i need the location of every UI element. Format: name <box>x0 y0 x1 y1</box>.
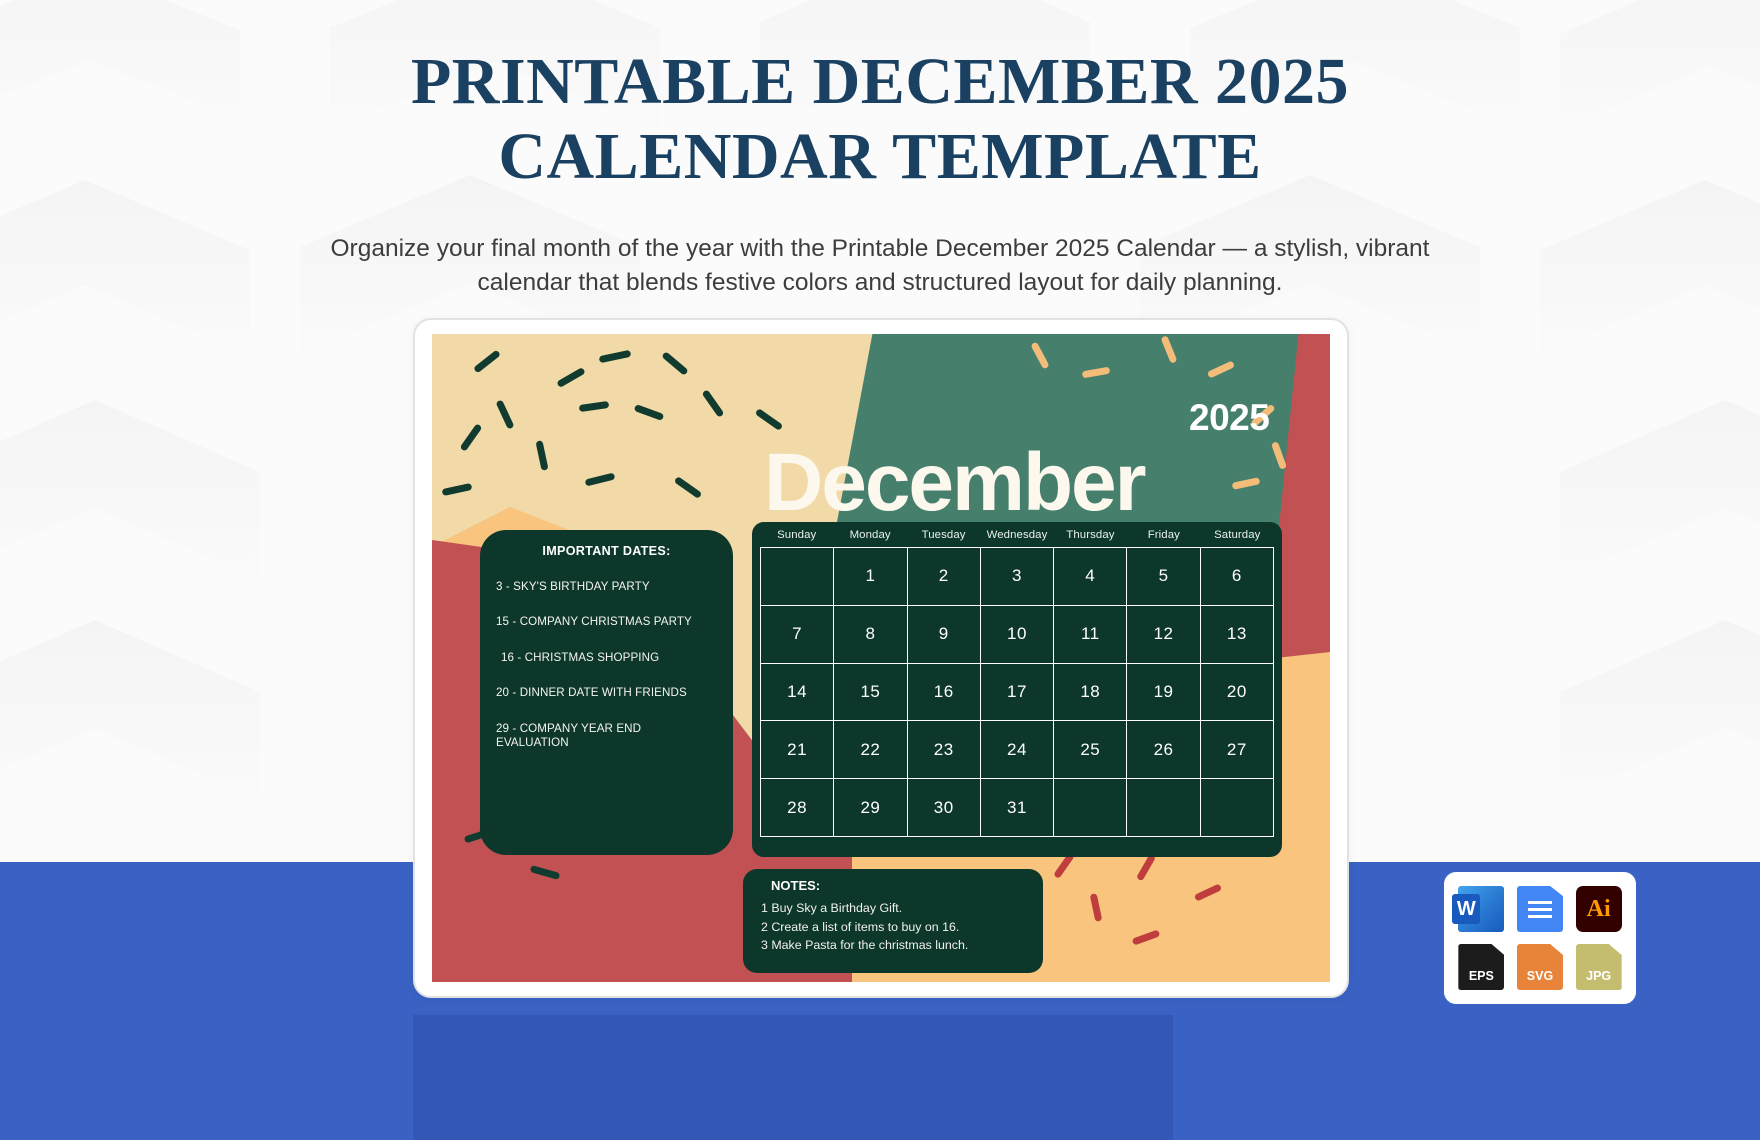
notes-item: 3 Make Pasta for the christmas lunch. <box>761 936 1029 955</box>
bg-chevron <box>0 180 250 355</box>
calendar-day-cell[interactable]: 17 <box>981 664 1054 722</box>
calendar-month-name: December <box>764 442 1145 524</box>
notes-item: 2 Create a list of items to buy on 16. <box>761 918 1029 937</box>
page-title: PRINTABLE DECEMBER 2025 CALENDAR TEMPLAT… <box>0 45 1760 194</box>
calendar-grid-panel: Sunday Monday Tuesday Wednesday Thursday… <box>752 522 1282 857</box>
docs-line <box>1528 915 1552 918</box>
calendar-day-cell[interactable] <box>1127 779 1200 837</box>
calendar-day-cell[interactable]: 2 <box>908 548 981 606</box>
bg-chevron <box>1540 180 1760 355</box>
sprinkle-dark <box>556 367 585 388</box>
sprinkle-dark <box>585 472 616 486</box>
notes-panel: NOTES: 1 Buy Sky a Birthday Gift. 2 Crea… <box>743 869 1043 973</box>
important-date-item: 20 - DINNER DATE WITH FRIENDS <box>496 686 717 700</box>
calendar-day-cell[interactable]: 9 <box>908 606 981 664</box>
sprinkle-dark <box>661 351 688 376</box>
sprinkle-dark <box>460 423 483 452</box>
calendar-day-cell[interactable]: 30 <box>908 779 981 837</box>
calendar-day-cell[interactable]: 19 <box>1127 664 1200 722</box>
bg-chevron <box>0 620 260 800</box>
calendar-day-cell[interactable]: 12 <box>1127 606 1200 664</box>
bg-chevron <box>1560 620 1760 800</box>
docs-line <box>1528 901 1552 904</box>
calendar-day-cell[interactable] <box>761 548 834 606</box>
important-date-item: 16 - CHRISTMAS SHOPPING <box>501 651 717 665</box>
calendar-day-cell[interactable]: 28 <box>761 779 834 837</box>
calendar-day-cell[interactable]: 24 <box>981 721 1054 779</box>
calendar-day-cell[interactable]: 7 <box>761 606 834 664</box>
weekday-wednesday: Wednesday <box>980 529 1053 543</box>
jpg-icon[interactable]: JPG <box>1576 944 1622 990</box>
notes-item: 1 Buy Sky a Birthday Gift. <box>761 899 1029 918</box>
weekday-thursday: Thursday <box>1054 529 1127 543</box>
calendar-weekday-header: Sunday Monday Tuesday Wednesday Thursday… <box>760 529 1274 543</box>
calendar-day-cell[interactable]: 11 <box>1054 606 1127 664</box>
calendar-day-cell[interactable]: 8 <box>834 606 907 664</box>
important-date-item: 29 - COMPANY YEAR END EVALUATION <box>496 722 717 751</box>
calendar-day-cell[interactable]: 5 <box>1127 548 1200 606</box>
svg-icon[interactable]: SVG <box>1517 944 1563 990</box>
calendar-day-cell[interactable]: 10 <box>981 606 1054 664</box>
calendar-day-cell[interactable]: 18 <box>1054 664 1127 722</box>
calendar-day-cell[interactable] <box>1201 779 1274 837</box>
footer-blue-inner <box>413 1015 1173 1140</box>
illustrator-icon[interactable]: Ai <box>1576 886 1622 932</box>
calendar-day-cell[interactable]: 6 <box>1201 548 1274 606</box>
calendar-preview-frame: 2025 December IMPORTANT DATES: 3 - SKY'S… <box>413 318 1349 998</box>
important-dates-panel: IMPORTANT DATES: 3 - SKY'S BIRTHDAY PART… <box>480 530 733 855</box>
sprinkle-dark <box>473 350 501 374</box>
sprinkle-dark <box>579 401 610 412</box>
notes-title: NOTES: <box>771 878 1029 893</box>
calendar-day-cell[interactable]: 20 <box>1201 664 1274 722</box>
calendar-day-cell[interactable]: 31 <box>981 779 1054 837</box>
page-title-line2: CALENDAR TEMPLATE <box>0 120 1760 195</box>
important-date-item: 3 - SKY'S BIRTHDAY PARTY <box>496 580 717 594</box>
important-date-item: 15 - COMPANY CHRISTMAS PARTY <box>496 615 717 629</box>
docs-line <box>1528 908 1552 911</box>
sprinkle-dark <box>599 350 632 364</box>
sprinkle-dark <box>634 404 665 421</box>
calendar-day-cell[interactable]: 27 <box>1201 721 1274 779</box>
bg-chevron <box>1560 400 1760 580</box>
calendar-day-cell[interactable]: 14 <box>761 664 834 722</box>
calendar-day-grid: 1 2 3 4 5 6 7 8 9 10 11 12 13 14 15 16 1… <box>760 547 1274 837</box>
weekday-saturday: Saturday <box>1201 529 1274 543</box>
sprinkle-dark <box>442 483 473 496</box>
sprinkle-dark <box>535 440 548 471</box>
calendar-day-cell[interactable]: 26 <box>1127 721 1200 779</box>
calendar-day-cell[interactable]: 29 <box>834 779 907 837</box>
google-docs-icon[interactable] <box>1517 886 1563 932</box>
weekday-friday: Friday <box>1127 529 1200 543</box>
word-icon[interactable]: W <box>1458 886 1504 932</box>
weekday-sunday: Sunday <box>760 529 833 543</box>
sprinkle-dark <box>755 408 784 431</box>
weekday-monday: Monday <box>833 529 906 543</box>
important-dates-title: IMPORTANT DATES: <box>496 544 717 558</box>
calendar-day-cell[interactable]: 22 <box>834 721 907 779</box>
calendar-day-cell[interactable]: 21 <box>761 721 834 779</box>
calendar-year: 2025 <box>1189 397 1269 439</box>
sprinkle-dark <box>702 389 725 418</box>
calendar-day-cell[interactable]: 13 <box>1201 606 1274 664</box>
sprinkle-dark <box>495 399 514 429</box>
calendar-poster: 2025 December IMPORTANT DATES: 3 - SKY'S… <box>432 334 1330 982</box>
calendar-day-cell[interactable]: 4 <box>1054 548 1127 606</box>
file-format-panel: W Ai EPS SVG JPG <box>1444 872 1636 1004</box>
calendar-day-cell[interactable]: 3 <box>981 548 1054 606</box>
calendar-day-cell[interactable]: 16 <box>908 664 981 722</box>
bg-chevron <box>0 400 260 580</box>
calendar-day-cell[interactable]: 23 <box>908 721 981 779</box>
calendar-day-cell[interactable] <box>1054 779 1127 837</box>
word-icon-label: W <box>1452 894 1480 924</box>
page-title-line1: PRINTABLE DECEMBER 2025 <box>0 45 1760 120</box>
sprinkle-dark <box>674 476 703 499</box>
eps-icon[interactable]: EPS <box>1458 944 1504 990</box>
calendar-day-cell[interactable]: 25 <box>1054 721 1127 779</box>
calendar-day-cell[interactable]: 15 <box>834 664 907 722</box>
weekday-tuesday: Tuesday <box>907 529 980 543</box>
page-subtitle: Organize your final month of the year wi… <box>300 232 1460 300</box>
calendar-day-cell[interactable]: 1 <box>834 548 907 606</box>
